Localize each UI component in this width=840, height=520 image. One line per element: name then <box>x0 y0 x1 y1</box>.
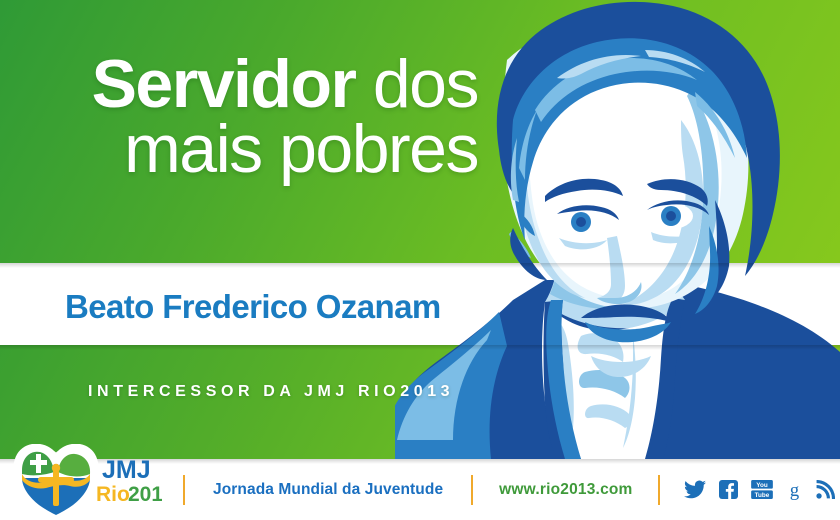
headline: Servidor dos mais pobres <box>0 52 478 183</box>
twitter-icon[interactable] <box>684 480 706 499</box>
rss-icon[interactable] <box>816 480 835 499</box>
svg-text:You: You <box>756 482 768 489</box>
footer-bar: JMJ Rio 2013 Jornada Mundial da Juventud… <box>0 459 840 520</box>
poster-canvas: Servidor dos mais pobres Beato Frederico… <box>0 0 840 520</box>
headline-line-1: Servidor dos <box>0 52 478 117</box>
headline-line-2: mais pobres <box>0 117 478 182</box>
social-links: You Tube g <box>684 480 840 500</box>
svg-text:Tube: Tube <box>754 492 769 499</box>
footer-divider-3 <box>658 475 660 505</box>
logo-year-text: 2013 <box>128 483 162 506</box>
facebook-icon[interactable] <box>719 480 738 499</box>
youtube-icon[interactable]: You Tube <box>751 480 773 499</box>
footer-divider-1 <box>183 475 185 505</box>
page-title: Beato Frederico Ozanam <box>65 288 441 326</box>
footer-tagline: Jornada Mundial da Juventude <box>213 481 443 499</box>
subtitle-kicker: INTERCESSOR DA JMJ RIO2013 <box>88 383 454 401</box>
googleplus-icon[interactable]: g <box>786 480 803 500</box>
footer-website-link[interactable]: www.rio2013.com <box>499 481 632 499</box>
jmj-rio2013-logo[interactable]: JMJ Rio 2013 <box>12 444 162 516</box>
logo-jmj-text: JMJ <box>102 456 151 484</box>
footer-divider-2 <box>471 475 473 505</box>
svg-text:g: g <box>789 480 799 500</box>
logo-rio-text: Rio <box>96 483 130 506</box>
